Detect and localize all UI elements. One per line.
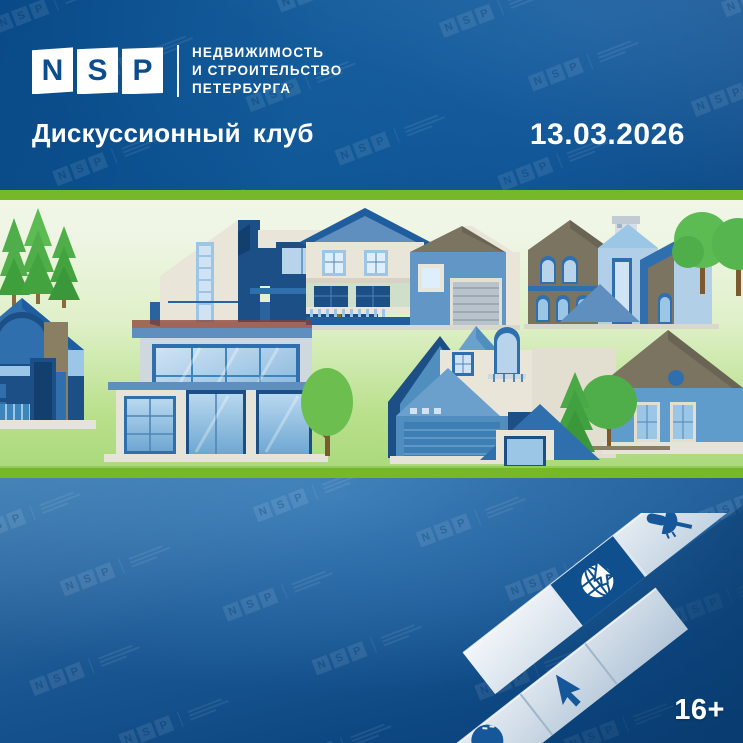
pine-trees-left: [0, 208, 80, 308]
event-date: 13.03.2026: [530, 118, 685, 152]
houses-scene: [0, 190, 743, 478]
page-title-word-1: Дискуссионный: [32, 118, 241, 148]
tagline-line-3: ПЕТЕРБУРГА: [192, 80, 342, 98]
poster-canvas: NSPNSPNSPNSPNSPNSPNSPNSPNSPNSPNSPNSPNSPN…: [0, 0, 743, 743]
tagline-line-2: И СТРОИТЕЛЬСТВО: [192, 62, 342, 80]
logo-letter-boxes: N S P: [32, 47, 167, 94]
logo-tagline: НЕДВИЖИМОСТЬ И СТРОИТЕЛЬСТВО ПЕТЕРБУРГА: [192, 44, 342, 98]
logo-letter-s: S: [77, 47, 118, 94]
houses-illustration-band: [0, 190, 743, 478]
logo-letter-n: N: [32, 47, 73, 94]
page-title: Дискуссионныйклуб: [32, 118, 314, 149]
tagline-line-1: НЕДВИЖИМОСТЬ: [192, 44, 342, 62]
glass-office-villa: [104, 320, 328, 462]
page-title-word-2: клуб: [253, 118, 314, 148]
poster-footer: NSPNSPNSPNSPNSPNSPNSPNSPNSPNSPNSPNSPNSPN…: [0, 478, 743, 743]
two-storey-porch-house: [300, 208, 520, 330]
gable-cottage-left: [0, 298, 96, 429]
poster-header: NSPNSPNSPNSPNSPNSPNSPNSPNSPNSPNSPNSPNSPN…: [0, 0, 743, 190]
logo-letter-p: P: [122, 47, 163, 94]
nsp-logo: N S P НЕДВИЖИМОСТЬ И СТРОИТЕЛЬСТВО ПЕТЕР…: [32, 44, 342, 98]
age-rating-badge: 16+: [674, 694, 725, 727]
logo-divider: [177, 45, 179, 97]
band-top-stripe: [0, 190, 743, 200]
band-bottom-stripe: [0, 468, 743, 478]
